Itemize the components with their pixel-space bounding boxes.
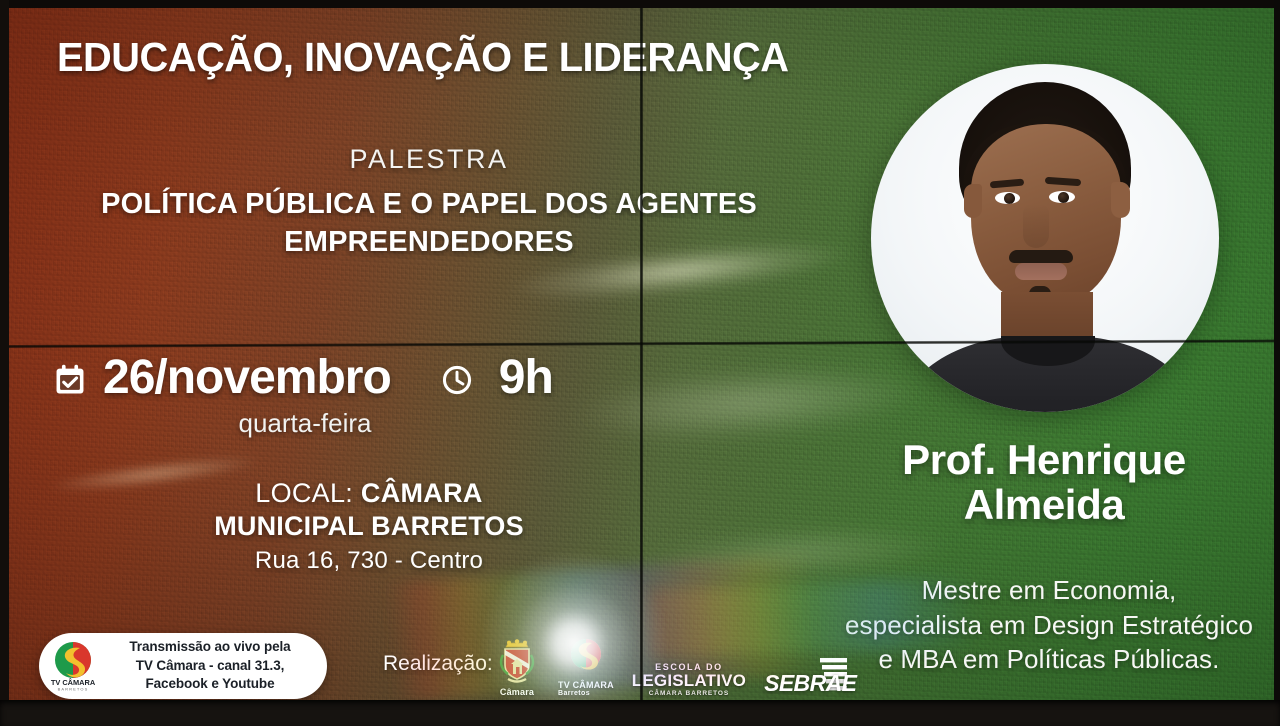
venue-name-part1: CÂMARA xyxy=(361,478,483,508)
location-block: LOCAL: CÂMARA MUNICIPAL BARRETOS Rua 16,… xyxy=(129,478,609,575)
speaker-bio-line-1: Mestre em Economia, xyxy=(799,573,1274,608)
logo-caption: Câmara xyxy=(500,687,534,697)
tv-camara-barretos-logo: TV CÂMARA BARRETOS xyxy=(49,640,97,692)
event-date: 26/novembro xyxy=(103,354,391,402)
realization-logos: Câmara TV CÂMARA Barretos ESCOLA xyxy=(494,632,856,697)
screen-surface: EDUCAÇÃO, INOVAÇÃO E LIDERANÇA PALESTRA … xyxy=(9,8,1274,700)
event-weekday: quarta-feira xyxy=(95,408,515,439)
portrait-ear-left xyxy=(964,184,982,218)
subtitle-line-2: EMPREENDEDORES xyxy=(59,224,799,262)
tv-camara-barretos-logo xyxy=(565,632,607,678)
venue-name-part2: MUNICIPAL BARRETOS xyxy=(129,511,609,542)
broadcast-badge: TV CÂMARA BARRETOS Transmissão ao vivo p… xyxy=(39,633,327,699)
logo-sebrae: SEBRAE xyxy=(764,670,856,697)
speaker-name-line-2: Almeida xyxy=(809,483,1274,528)
kicker-label: PALESTRA xyxy=(59,144,799,175)
escola-line-2: LEGISLATIVO xyxy=(632,672,746,689)
portrait-eye-right xyxy=(1049,191,1075,203)
portrait-eye-left xyxy=(995,192,1020,204)
calendar-check-icon xyxy=(53,363,87,397)
speaker-portrait xyxy=(871,64,1219,412)
camara-coat-of-arms-logo xyxy=(494,639,540,685)
logo-caption-main: TV CÂMARA xyxy=(558,680,614,690)
escola-line-3: CÂMARA BARRETOS xyxy=(632,690,746,697)
broadcast-line-3: Facebook e Youtube xyxy=(105,675,315,694)
speaker-name-line-1: Prof. Henrique xyxy=(809,438,1274,483)
location-label-line: LOCAL: CÂMARA xyxy=(129,478,609,509)
video-wall: EDUCAÇÃO, INOVAÇÃO E LIDERANÇA PALESTRA … xyxy=(0,0,1280,726)
event-time: 9h xyxy=(499,354,553,402)
bezel-left xyxy=(0,0,9,726)
clock-icon xyxy=(441,364,473,396)
logo-tv-camara: TV CÂMARA Barretos xyxy=(558,632,614,697)
sebrae-wordmark: SEBRAE xyxy=(764,670,856,697)
page-title: EDUCAÇÃO, INOVAÇÃO E LIDERANÇA xyxy=(57,34,823,81)
portrait-lips xyxy=(1015,263,1067,280)
logo-camara: Câmara xyxy=(494,639,540,697)
speaker-bio-line-2: especialista em Design Estratégico xyxy=(799,608,1274,643)
date-time-row: 26/novembro 9h xyxy=(53,354,553,402)
speaker-bio-line-3: e MBA em Políticas Públicas. xyxy=(799,642,1274,677)
bezel-top xyxy=(0,0,1280,8)
slide-content: EDUCAÇÃO, INOVAÇÃO E LIDERANÇA PALESTRA … xyxy=(9,8,1274,700)
broadcast-line-2: TV Câmara - canal 31.3, xyxy=(105,657,315,676)
svg-text:BARRETOS: BARRETOS xyxy=(58,687,89,692)
portrait-ear-right xyxy=(1111,182,1130,218)
logo-caption-sub: Barretos xyxy=(558,690,614,697)
logo-escola-legislativo: ESCOLA DO LEGISLATIVO CÂMARA BARRETOS xyxy=(632,662,746,697)
location-label: LOCAL: xyxy=(255,478,353,508)
bezel-right xyxy=(1274,0,1280,726)
lecture-subtitle: POLÍTICA PÚBLICA E O PAPEL DOS AGENTES E… xyxy=(59,186,799,261)
broadcast-line-1: Transmissão ao vivo pela xyxy=(105,638,315,657)
speaker-bio: Mestre em Economia, especialista em Desi… xyxy=(799,573,1274,677)
portrait-nose xyxy=(1023,204,1049,248)
subtitle-line-1: POLÍTICA PÚBLICA E O PAPEL DOS AGENTES xyxy=(59,186,799,224)
realization-label: Realização: xyxy=(383,652,493,676)
venue-address: Rua 16, 730 - Centro xyxy=(129,547,609,575)
portrait-moustache xyxy=(1009,250,1073,263)
broadcast-badge-text: Transmissão ao vivo pela TV Câmara - can… xyxy=(105,638,315,694)
speaker-name: Prof. Henrique Almeida xyxy=(809,438,1274,527)
logo-caption: TV CÂMARA Barretos xyxy=(558,680,614,697)
bezel-bottom xyxy=(0,700,1280,726)
